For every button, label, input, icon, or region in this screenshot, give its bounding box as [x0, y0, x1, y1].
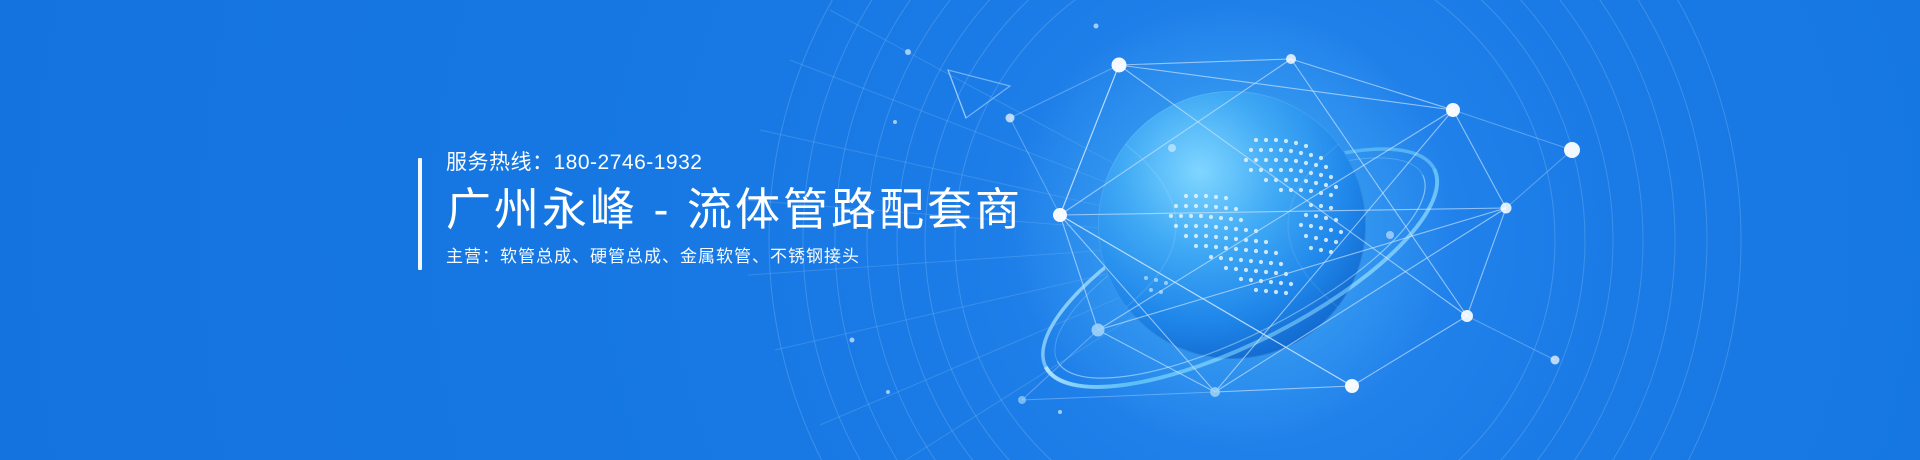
hotline-text: 服务热线：180-2746-1932	[446, 152, 1023, 173]
banner-text-block: 服务热线：180-2746-1932 广州永峰 - 流体管路配套商 主营：软管总…	[418, 152, 1023, 265]
subtitle-text: 主营：软管总成、硬管总成、金属软管、不锈钢接头	[446, 248, 1023, 265]
triangle-accent	[948, 70, 1010, 118]
hero-banner: 服务热线：180-2746-1932 广州永峰 - 流体管路配套商 主营：软管总…	[0, 0, 1920, 460]
page-title: 广州永峰 - 流体管路配套商	[446, 187, 1023, 232]
accent-bar	[418, 158, 422, 270]
network-nodes	[1006, 54, 1581, 404]
